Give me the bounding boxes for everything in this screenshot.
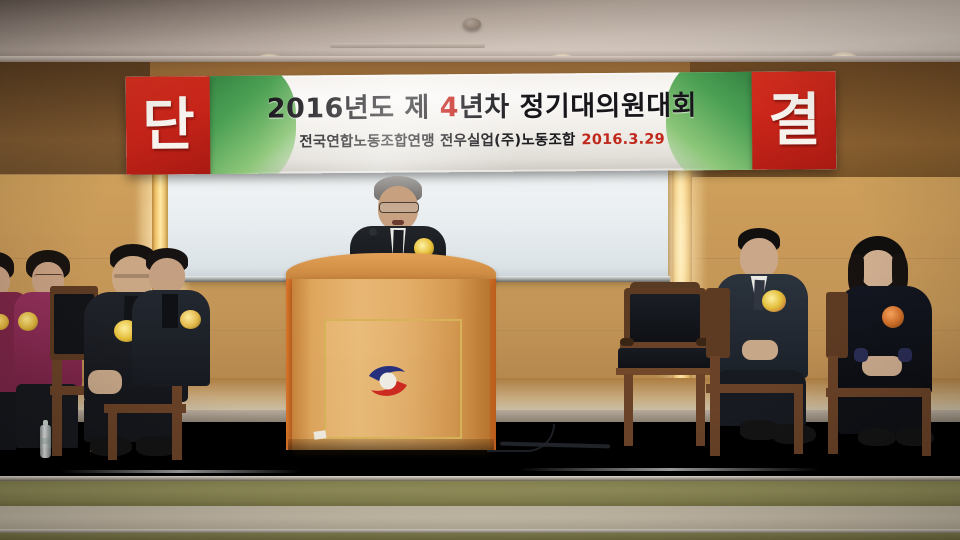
step-riser-lower [0,533,960,540]
chair-right-1 [706,288,812,464]
ceiling [0,0,960,62]
banner-title-prefix: 2016년도 제 [267,92,440,124]
microphone-head-icon [369,228,377,236]
chair-right-2 [826,292,936,464]
speaking-podium [286,253,496,450]
banner-block-right: 결 [752,71,837,170]
banner-date: 2016.3.29 [581,132,665,149]
attendee-man-background [136,248,212,388]
chair-armrest-left [620,338,634,346]
step-tread-lower [0,506,960,530]
banner-title: 2016년도 제 4년차 정기대의원대회 [222,83,742,126]
smoke-detector-icon [463,18,481,30]
glasses-icon [34,274,63,282]
paper-scrap [314,430,327,440]
floor-highlight [60,470,300,473]
step-riser-upper [0,481,960,507]
water-bottle-on-floor [40,425,51,458]
banner-title-highlight: 4 [440,92,460,123]
glasses-icon [379,202,419,213]
empty-chair-center [612,282,716,452]
stage-floor [0,444,960,480]
air-vent [330,43,485,48]
banner-subtitle-text: 전국연합노동조합연맹 전우실업(주)노동조합 [299,132,575,150]
event-banner: 단 결 2016년도 제 4년차 정기대의원대회 전국연합노동조합연맹 전우실업… [126,71,837,175]
union-emblem-icon [364,359,412,403]
banner-title-suffix: 년차 정기대의원대회 [459,90,697,123]
banner-subtitle: 전국연합노동조합연맹 전우실업(주)노동조합2016.3.29 [222,127,742,152]
banner-char-left: 단 [142,97,194,154]
floor-highlight [520,468,820,471]
banner-block-left: 단 [126,76,211,175]
mouth [392,220,404,225]
photo-scene: 단 결 2016년도 제 4년차 정기대의원대회 전국연합노동조합연맹 전우실업… [0,0,960,540]
banner-char-right: 결 [768,92,820,149]
